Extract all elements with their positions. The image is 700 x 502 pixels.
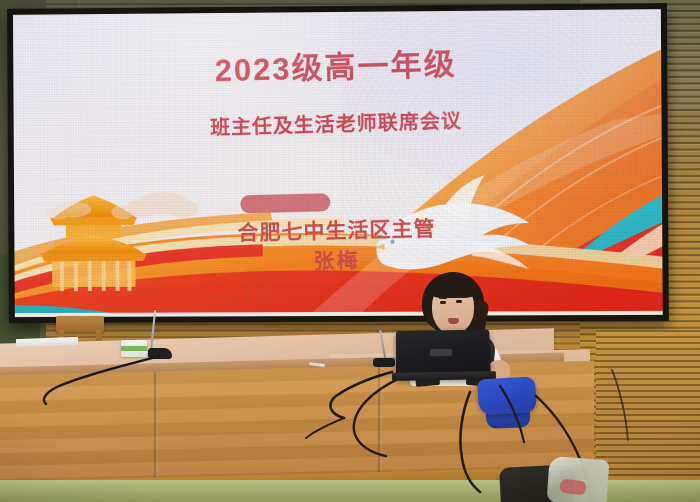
plastic-wrapping xyxy=(546,456,609,502)
mouth xyxy=(448,318,459,324)
hair-fringe xyxy=(428,276,478,298)
microphone-base xyxy=(373,358,395,367)
conference-photo: 2023级高一年级 班主任及生活老师联席会议 合肥七中生活区主管 张梅 xyxy=(0,0,700,502)
tissue-box xyxy=(121,340,147,357)
tissue-box-stripe xyxy=(121,346,147,351)
eyebrow-right xyxy=(455,296,463,298)
plastic-red-item xyxy=(559,479,586,496)
microphone-base xyxy=(148,348,172,359)
eye-left xyxy=(440,301,446,304)
eye-right xyxy=(456,300,462,303)
eyebrow-left xyxy=(439,297,447,299)
led-display-screen[interactable]: 2023级高一年级 班主任及生活老师联席会议 合肥七中生活区主管 张梅 xyxy=(7,3,669,323)
slide-subtitle: 班主任及生活老师联席会议 xyxy=(13,99,661,146)
laptop-badge xyxy=(430,349,452,356)
slide-title: 2023级高一年级 xyxy=(13,33,662,96)
slide-text-block: 2023级高一年级 班主任及生活老师联席会议 合肥七中生活区主管 张梅 xyxy=(13,9,663,317)
right-wood-panel xyxy=(596,330,700,482)
redaction-bar xyxy=(240,193,330,213)
blue-bag xyxy=(477,377,537,416)
screen-surface: 2023级高一年级 班主任及生活老师联席会议 合肥七中生活区主管 张梅 xyxy=(13,9,663,317)
